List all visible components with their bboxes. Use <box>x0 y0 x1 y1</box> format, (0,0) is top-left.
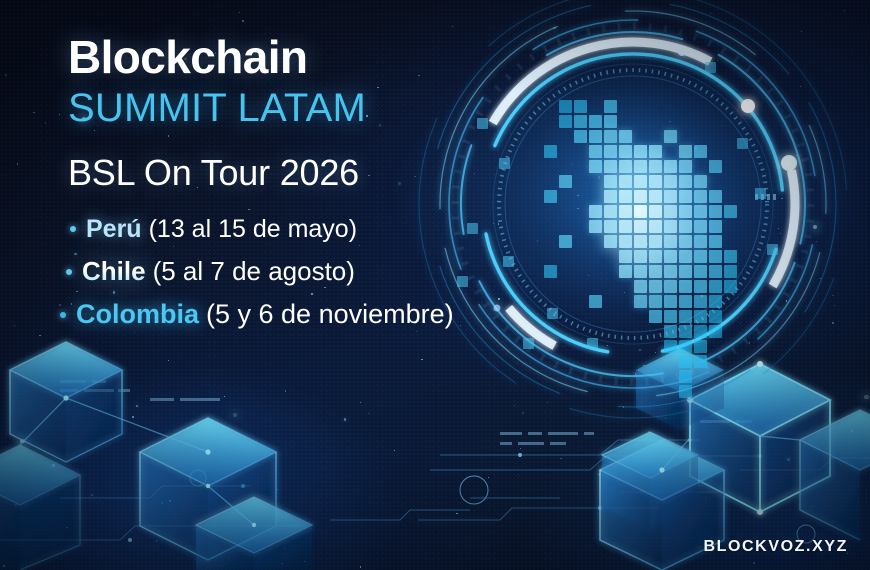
bullet-dot-icon <box>66 269 72 275</box>
bullet-dot-icon <box>70 226 76 232</box>
tour-stop-country: Perú <box>86 215 142 244</box>
list-item: Colombia (5 y 6 de noviembre) <box>60 299 500 330</box>
page-title-blockchain: Blockchain <box>68 34 307 80</box>
bullet-dot-icon <box>60 312 66 318</box>
tour-stop-dates: (5 y 6 de noviembre) <box>206 299 454 330</box>
tour-stop-dates: (13 al 15 de mayo) <box>149 215 357 244</box>
tour-stop-country: Colombia <box>76 299 199 330</box>
watermark-blockvoz: BLOCKVOZ.XYZ <box>703 538 848 556</box>
poster-canvas: Blockchain SUMMIT LATAM BSL On Tour 2026… <box>0 0 870 570</box>
list-item: Chile (5 al 7 de agosto) <box>60 256 500 287</box>
headline-block: Blockchain SUMMIT LATAM BSL On Tour 2026… <box>0 0 500 570</box>
page-subtitle-summit-latam: SUMMIT LATAM <box>68 88 366 128</box>
page-title-bsl-on-tour: BSL On Tour 2026 <box>68 155 359 191</box>
tour-stop-country: Chile <box>82 256 146 287</box>
tour-stop-list: Perú (13 al 15 de mayo) Chile (5 al 7 de… <box>60 215 500 330</box>
list-item: Perú (13 al 15 de mayo) <box>60 215 500 244</box>
tour-stop-dates: (5 al 7 de agosto) <box>153 256 355 287</box>
